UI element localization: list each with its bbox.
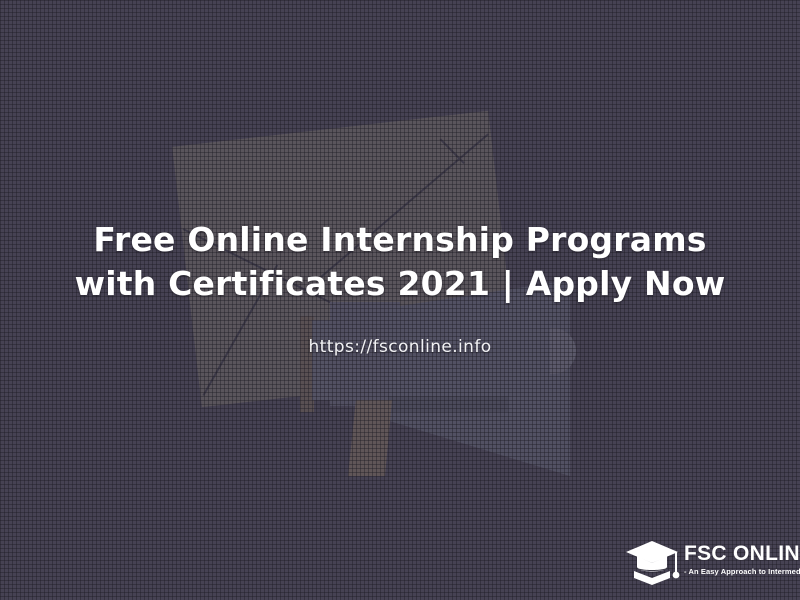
headline-line-2: with Certificates 2021 | Apply Now xyxy=(0,262,800,306)
logo-name: FSC ONLINE xyxy=(684,543,800,565)
logo: FSC ONLINE - An Easy Approach to Interme… xyxy=(626,536,786,592)
headline-line-1: Free Online Internship Programs xyxy=(0,218,800,262)
logo-tagline: - An Easy Approach to Intermediate - xyxy=(684,566,800,577)
logo-text-block: FSC ONLINE - An Easy Approach to Interme… xyxy=(684,536,800,577)
banner-content: Free Online Internship Programs with Cer… xyxy=(0,0,800,600)
page-title: Free Online Internship Programs with Cer… xyxy=(0,218,800,306)
site-url: https://fsconline.info xyxy=(0,337,800,357)
promo-banner: Free Online Internship Programs with Cer… xyxy=(0,0,800,600)
graduation-cap-icon xyxy=(626,537,682,587)
